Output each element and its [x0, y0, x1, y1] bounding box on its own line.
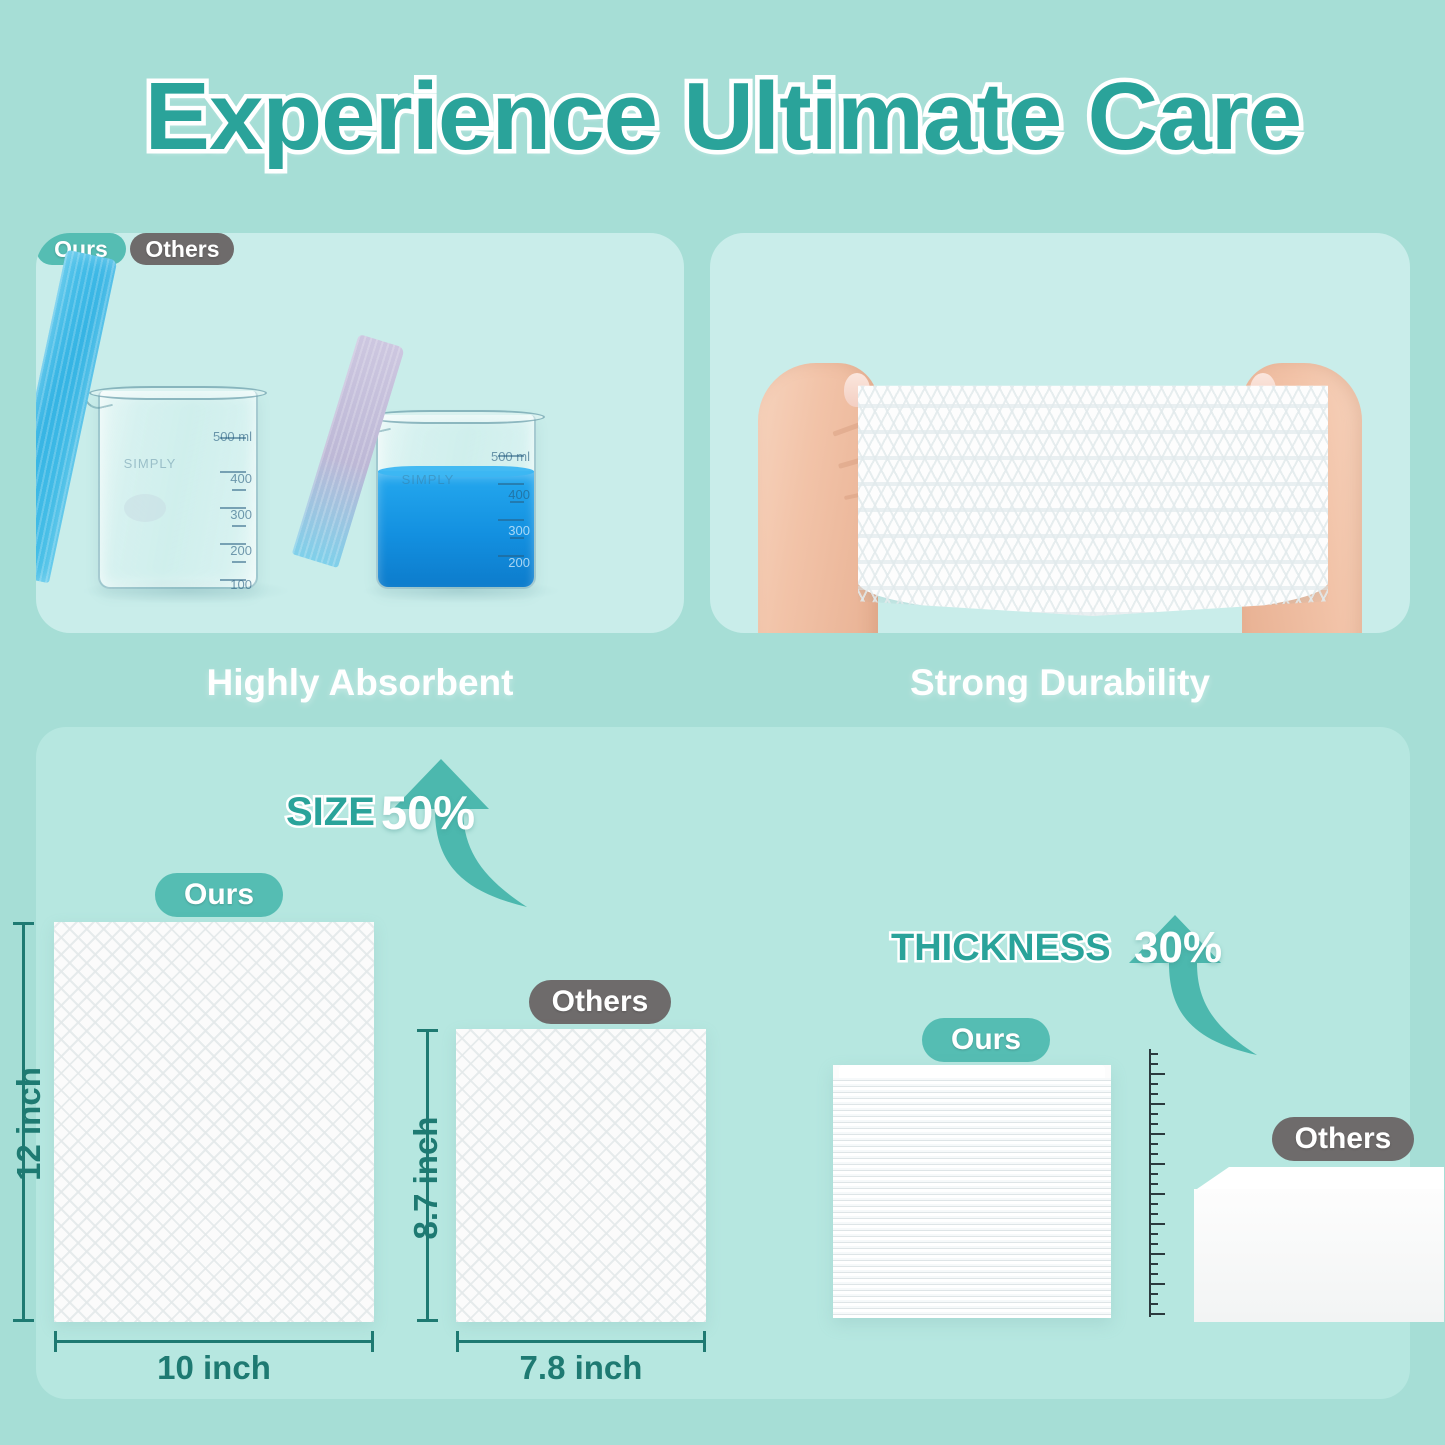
beaker-others: SIMPLY 500 ml 400 300 200	[376, 415, 536, 589]
size-growth-arrow	[331, 757, 591, 937]
badge-others-size: Others	[529, 980, 671, 1024]
beaker-ours-label-500: 500 ml	[213, 429, 252, 444]
thickness-percent-value: 30%	[1134, 923, 1222, 973]
thickness-ruler	[1149, 1049, 1171, 1317]
dimension-line-others-width	[456, 1340, 706, 1343]
badge-others-thickness: Others	[1272, 1117, 1414, 1161]
wipe-sheet-ours	[54, 922, 374, 1322]
comparison-panel: SIZE 50% Ours 12 inch 10 inch Others 8.7…	[36, 727, 1410, 1399]
page-title: Experience Ultimate Care	[144, 62, 1301, 172]
wipe-stack-ours-top	[839, 1065, 1105, 1078]
beaker-others-brand: SIMPLY	[402, 472, 455, 487]
badge-ours-size: Ours	[155, 873, 283, 917]
beaker-others-label-300: 300	[508, 523, 530, 538]
wipe-sheet-others	[456, 1029, 706, 1322]
beaker-ours-rim	[89, 386, 267, 400]
wipe-block-others-front	[1194, 1189, 1444, 1322]
wipe-sheet-ours-texture	[54, 922, 374, 1322]
feature-panel-absorbency: SIMPLY 500 ml 400 300 200 100 Ours SIMPL…	[36, 233, 684, 633]
wipe-stack-ours	[833, 1065, 1111, 1318]
badge-others-absorbency: Others	[130, 233, 234, 265]
thickness-metric-label: THICKNESS	[891, 927, 1111, 970]
dimension-label-others-height: 8.7 inch	[407, 1088, 445, 1268]
wipe-sheet-others-texture	[456, 1029, 706, 1322]
caption-highly-absorbent: Highly Absorbent	[36, 662, 684, 704]
badge-ours-thickness: Ours	[922, 1018, 1050, 1062]
wipe-block-others	[1194, 1167, 1444, 1322]
dimension-label-others-width: 7.8 inch	[456, 1349, 706, 1387]
dimension-line-ours-width	[54, 1340, 374, 1343]
stretched-wipe	[858, 371, 1328, 616]
beaker-ours: SIMPLY 500 ml 400 300 200 100	[98, 391, 258, 589]
beaker-others-label-500: 500 ml	[491, 449, 530, 464]
beaker-ours-label-300: 300	[230, 507, 252, 522]
page-header: Experience Ultimate Care	[0, 62, 1445, 172]
beaker-ours-sticker	[124, 494, 166, 522]
size-percent-value: 50%	[381, 785, 475, 840]
wipe-block-others-top	[1194, 1167, 1444, 1191]
beaker-others-label-200: 200	[508, 555, 530, 570]
beaker-others-label-400: 400	[508, 487, 530, 502]
dimension-label-ours-height: 12 inch	[10, 1049, 48, 1199]
beaker-ours-label-400: 400	[230, 471, 252, 486]
dimension-label-ours-width: 10 inch	[54, 1349, 374, 1387]
beaker-others-graduations	[450, 453, 524, 571]
beaker-others-rim	[367, 410, 545, 424]
size-metric-label: SIZE	[286, 790, 375, 835]
beaker-ours-brand: SIMPLY	[124, 456, 177, 471]
beaker-ours-label-100: 100	[230, 577, 252, 592]
feature-panel-durability	[710, 233, 1410, 633]
stretched-wipe-texture	[858, 371, 1328, 616]
wipe-stack-ours-texture	[833, 1078, 1111, 1318]
beaker-ours-label-200: 200	[230, 543, 252, 558]
caption-strong-durability: Strong Durability	[710, 662, 1410, 704]
